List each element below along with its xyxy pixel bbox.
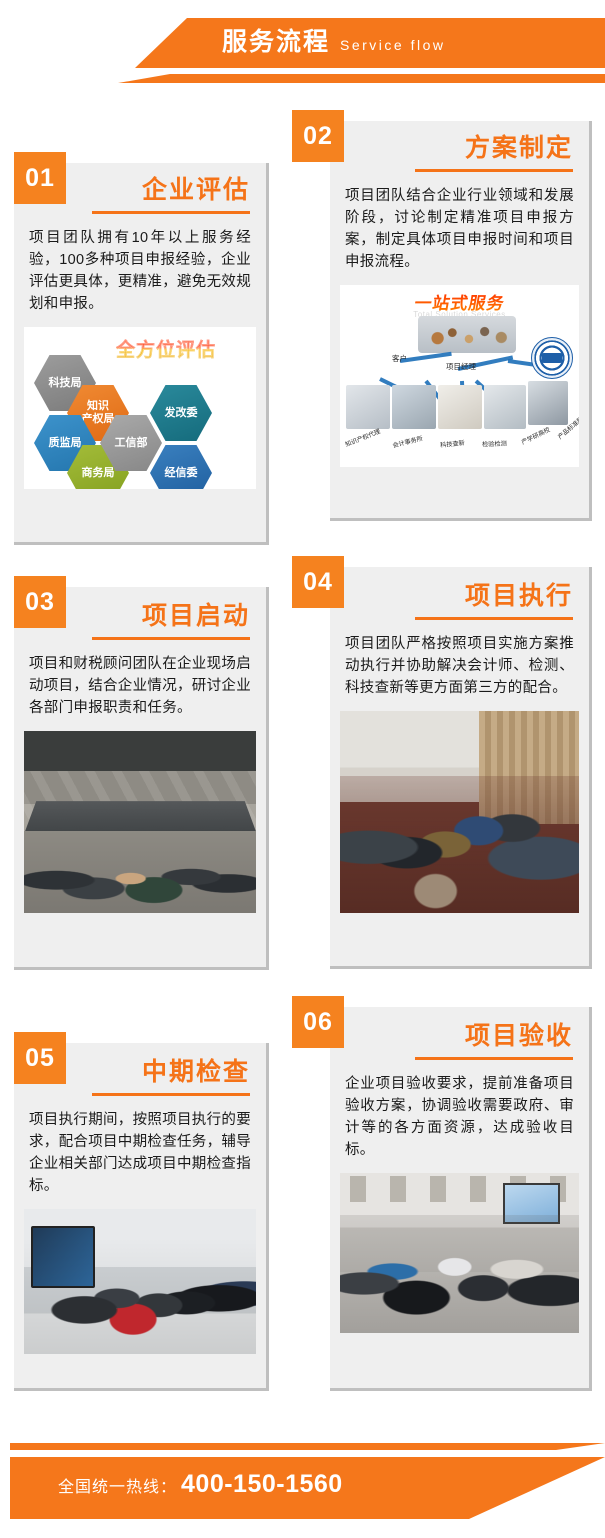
card-01-rule <box>92 211 250 214</box>
card-02-body: 项目团队结合企业行业领域和发展阶段，讨论制定精准项目申报方案，制定具体项目申报时… <box>330 172 589 285</box>
projection-screen <box>503 1183 560 1225</box>
photo-showroom-group-discussion <box>24 1209 256 1354</box>
card-05-media <box>24 1209 256 1354</box>
hex-diagram: 全方位评估 科技局 知识产权局 质监局 商务局 工信部 发改委 经信委 <box>24 327 256 489</box>
onestop-diagram: 一站式服务 Total Solution Services 客户 项目经理 <box>340 285 579 467</box>
hex-node-jingxinwei: 经信委 <box>150 445 212 489</box>
page-title: 服务流程 Service flow <box>222 24 445 63</box>
photo-team-working-at-table <box>340 711 579 913</box>
card-03-media <box>24 731 256 913</box>
onestop-certification-seal <box>531 337 573 379</box>
card-badge-06: 06 <box>292 996 344 1048</box>
card-04-media <box>340 711 579 913</box>
card-06-header: 项目验收 <box>330 1007 589 1060</box>
card-03[interactable]: 项目启动 项目和财税顾问团队在企业现场启动项目，结合企业情况，研讨企业各部门申报… <box>14 587 269 970</box>
page-header: 服务流程 Service flow <box>0 0 605 110</box>
card-badge-02: 02 <box>292 110 344 162</box>
onestop-label-manager: 项目经理 <box>446 361 476 372</box>
card-03-body: 项目和财税顾问团队在企业现场启动项目，结合企业情况，研讨企业各部门申报职责和任务… <box>14 640 266 731</box>
onestop-branch-label-4: 检验检测 <box>482 439 507 449</box>
onestop-thumb-4 <box>484 385 526 429</box>
card-06[interactable]: 项目验收 企业项目验收要求，提前准备项目验收方案，协调验收需要政府、审计等的各方… <box>330 1007 592 1391</box>
card-05-rule <box>92 1093 250 1096</box>
card-01[interactable]: 企业评估 项目团队拥有10年以上服务经验，100多种项目申报经验，企业评估更具体… <box>14 163 269 545</box>
hex-diagram-title: 全方位评估 <box>116 335 216 362</box>
card-06-body: 企业项目验收要求，提前准备项目验收方案，协调验收需要政府、审计等的各方面资源，达… <box>330 1060 589 1173</box>
card-02-title: 方案制定 <box>346 129 573 167</box>
card-06-media <box>340 1173 579 1333</box>
card-06-rule <box>415 1057 573 1060</box>
onestop-thumb-5 <box>528 381 568 425</box>
hex-node-fagaiwei: 发改委 <box>150 385 212 441</box>
card-01-media: 全方位评估 科技局 知识产权局 质监局 商务局 工信部 发改委 经信委 <box>24 327 256 489</box>
card-04-header: 项目执行 <box>330 567 589 620</box>
footer-hotline-number[interactable]: 400-150-1560 <box>181 1470 343 1499</box>
card-02-rule <box>415 169 573 172</box>
card-02-header: 方案制定 <box>330 121 589 172</box>
page-title-cn: 服务流程 <box>222 24 330 60</box>
service-flow-page: 服务流程 Service flow 01 企业评估 项目团队拥有10年以上服务经… <box>0 0 605 1538</box>
onestop-thumb-1 <box>346 385 390 429</box>
footer-hotline-label: 全国统一热线： <box>58 1473 177 1497</box>
card-04[interactable]: 项目执行 项目团队严格按照项目实施方案推动执行并协助解决会计师、检测、科技查新等… <box>330 567 592 969</box>
card-02-media: 一站式服务 Total Solution Services 客户 项目经理 <box>340 285 579 467</box>
onestop-branch-label-3: 科技查新 <box>440 438 466 450</box>
onestop-top-photo <box>418 316 516 353</box>
page-title-en: Service flow <box>340 27 445 63</box>
card-02[interactable]: 方案制定 项目团队结合企业行业领域和发展阶段，讨论制定精准项目申报方案，制定具体… <box>330 121 592 521</box>
onestop-label-customer: 客户 <box>392 353 407 364</box>
photo-conference-hall-acceptance <box>340 1173 579 1333</box>
footer-accent-line <box>10 1443 605 1450</box>
onestop-branch-label-1: 知识产权代理 <box>344 426 382 448</box>
card-badge-01: 01 <box>14 152 66 204</box>
card-04-rule <box>415 617 573 620</box>
card-badge-03: 03 <box>14 576 66 628</box>
card-badge-04: 04 <box>292 556 344 608</box>
onestop-thumb-2 <box>392 385 436 429</box>
footer-hotline: 全国统一热线： 400-150-1560 <box>58 1470 343 1499</box>
card-05[interactable]: 中期检查 项目执行期间，按照项目执行的要求，配合项目中期检查任务，辅导企业相关部… <box>14 1043 269 1391</box>
onestop-thumb-3 <box>438 385 482 429</box>
arrow-to-customer <box>400 352 452 363</box>
card-badge-05: 05 <box>14 1032 66 1084</box>
card-01-body: 项目团队拥有10年以上服务经验，100多种项目申报经验，企业评估更具体，更精准，… <box>14 214 266 327</box>
card-04-title: 项目执行 <box>346 577 573 615</box>
header-accent-line <box>118 74 605 83</box>
photo-meeting-room-presentation <box>24 731 256 913</box>
card-03-rule <box>92 637 250 640</box>
onestop-branch-label-2: 会计事务所 <box>391 433 423 449</box>
card-06-title: 项目验收 <box>346 1017 573 1055</box>
card-04-body: 项目团队严格按照项目实施方案推动执行并协助解决会计师、检测、科技查新等更方面第三… <box>330 620 589 711</box>
card-05-body: 项目执行期间，按照项目执行的要求，配合项目中期检查任务，辅导企业相关部门达成项目… <box>14 1096 266 1209</box>
